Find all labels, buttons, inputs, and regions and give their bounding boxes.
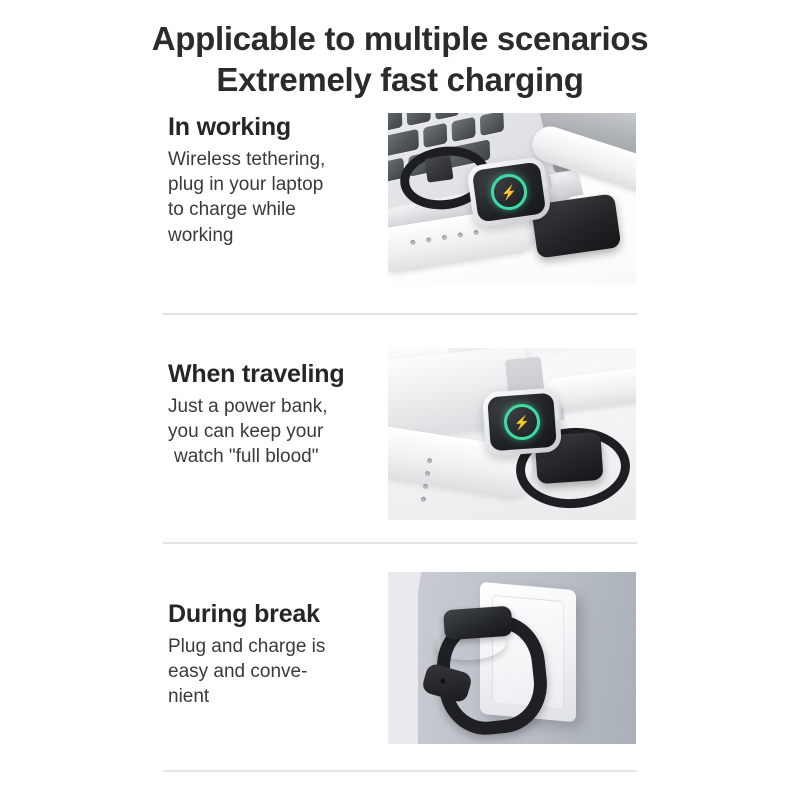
watch-crown — [556, 407, 564, 420]
scenario-photo-laptop: ⚡ — [388, 113, 636, 285]
charging-ring-icon: ⚡ — [489, 172, 530, 213]
scenario-photo-wall-outlet — [388, 572, 636, 744]
keyboard-key — [435, 113, 459, 120]
scenario-text-block-1: In working Wireless tethering, plug in y… — [168, 113, 380, 248]
watch-screen: ⚡ — [472, 162, 547, 223]
keyboard-key — [388, 129, 419, 158]
charger-usb-plug — [424, 155, 453, 182]
keyboard-key — [407, 113, 431, 126]
scenario-body-1: Wireless tethering, plug in your laptop … — [168, 147, 380, 248]
headline-line-1: Applicable to multiple scenarios — [0, 18, 800, 59]
scenario-title-3: During break — [168, 600, 380, 629]
scenario-text-block-2: When traveling Just a power bank, you ca… — [168, 360, 380, 470]
scenario-section-during-break: During break Plug and charge is easy and… — [0, 572, 800, 744]
section-divider-3 — [163, 770, 637, 772]
smartwatch — [443, 606, 513, 641]
scenario-body-2: Just a power bank, you can keep your wat… — [168, 394, 380, 470]
keyboard-key — [423, 123, 447, 148]
smartwatch: ⚡ — [466, 156, 552, 228]
body-line: working — [168, 223, 380, 248]
watch-screen: ⚡ — [487, 393, 557, 451]
smartwatch: ⚡ — [482, 387, 562, 456]
keyboard-key — [451, 117, 475, 142]
section-divider-2 — [163, 542, 637, 544]
body-line: plug in your laptop — [168, 172, 380, 197]
wall-edge — [388, 572, 418, 744]
lightning-bolt-icon: ⚡ — [513, 415, 530, 429]
scenario-section-when-traveling: When traveling Just a power bank, you ca… — [0, 348, 800, 520]
headline-line-2: Extremely fast charging — [0, 59, 800, 100]
body-line: nient — [168, 684, 380, 709]
keyboard-key — [480, 113, 504, 136]
keyboard-key — [388, 113, 402, 132]
scenario-section-in-working: In working Wireless tethering, plug in y… — [0, 113, 800, 285]
lightning-bolt-icon: ⚡ — [500, 184, 518, 199]
body-line: Plug and charge is — [168, 634, 380, 659]
scenario-title-2: When traveling — [168, 360, 380, 389]
scenario-text-block-3: During break Plug and charge is easy and… — [168, 600, 380, 710]
body-line: Just a power bank, — [168, 394, 380, 419]
section-divider-1 — [163, 313, 637, 315]
body-line: to charge while — [168, 197, 380, 222]
product-feature-page: Applicable to multiple scenarios Extreme… — [0, 0, 800, 800]
scenario-photo-power-bank: ⚡ — [388, 348, 636, 520]
body-line: easy and conve- — [168, 659, 380, 684]
charging-ring-icon: ⚡ — [503, 403, 541, 441]
body-line: watch "full blood" — [168, 444, 380, 469]
scenario-body-3: Plug and charge is easy and conve- nient — [168, 634, 380, 710]
page-headline: Applicable to multiple scenarios Extreme… — [0, 18, 800, 101]
body-line: Wireless tethering, — [168, 147, 380, 172]
scenario-title-1: In working — [168, 113, 380, 142]
body-line: you can keep your — [168, 419, 380, 444]
